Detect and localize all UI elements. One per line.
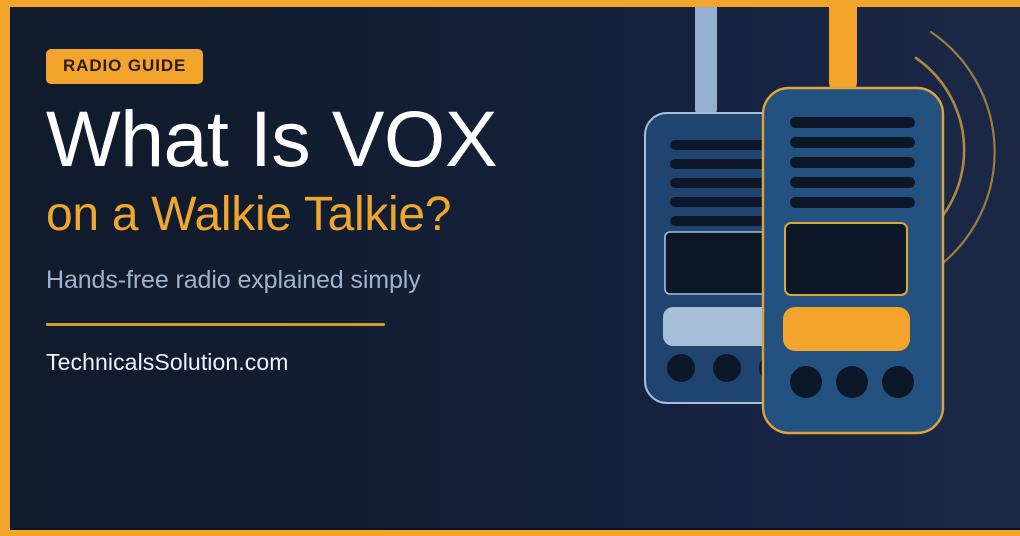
frame-border-top: [0, 0, 1020, 7]
front-radio-ptt-button: [783, 307, 910, 351]
front-radio-screen: [785, 223, 907, 295]
site-name: TechnicalsSolution.com: [46, 349, 666, 376]
divider: [46, 323, 385, 326]
frame-border-left: [0, 0, 10, 536]
front-radio-buttons: [790, 366, 914, 398]
front-antenna: [829, 0, 857, 95]
back-antenna: [695, 0, 717, 120]
page-subtitle: on a Walkie Talkie?: [46, 190, 666, 240]
front-walkie-talkie: [763, 0, 943, 433]
frame-border-bottom: [0, 530, 1020, 536]
tagline: Hands-free radio explained simply: [46, 266, 666, 295]
walkie-talkie-illustration: [620, 0, 1020, 536]
page-title: What Is VOX: [46, 101, 666, 178]
category-badge: RADIO GUIDE: [46, 49, 203, 84]
banner-text-content: RADIO GUIDE What Is VOX on a Walkie Talk…: [46, 0, 666, 536]
radio-guide-banner: RADIO GUIDE What Is VOX on a Walkie Talk…: [0, 0, 1020, 536]
frame-inner-line-bottom: [10, 528, 1020, 530]
frame-inner-line-left: [10, 7, 12, 530]
